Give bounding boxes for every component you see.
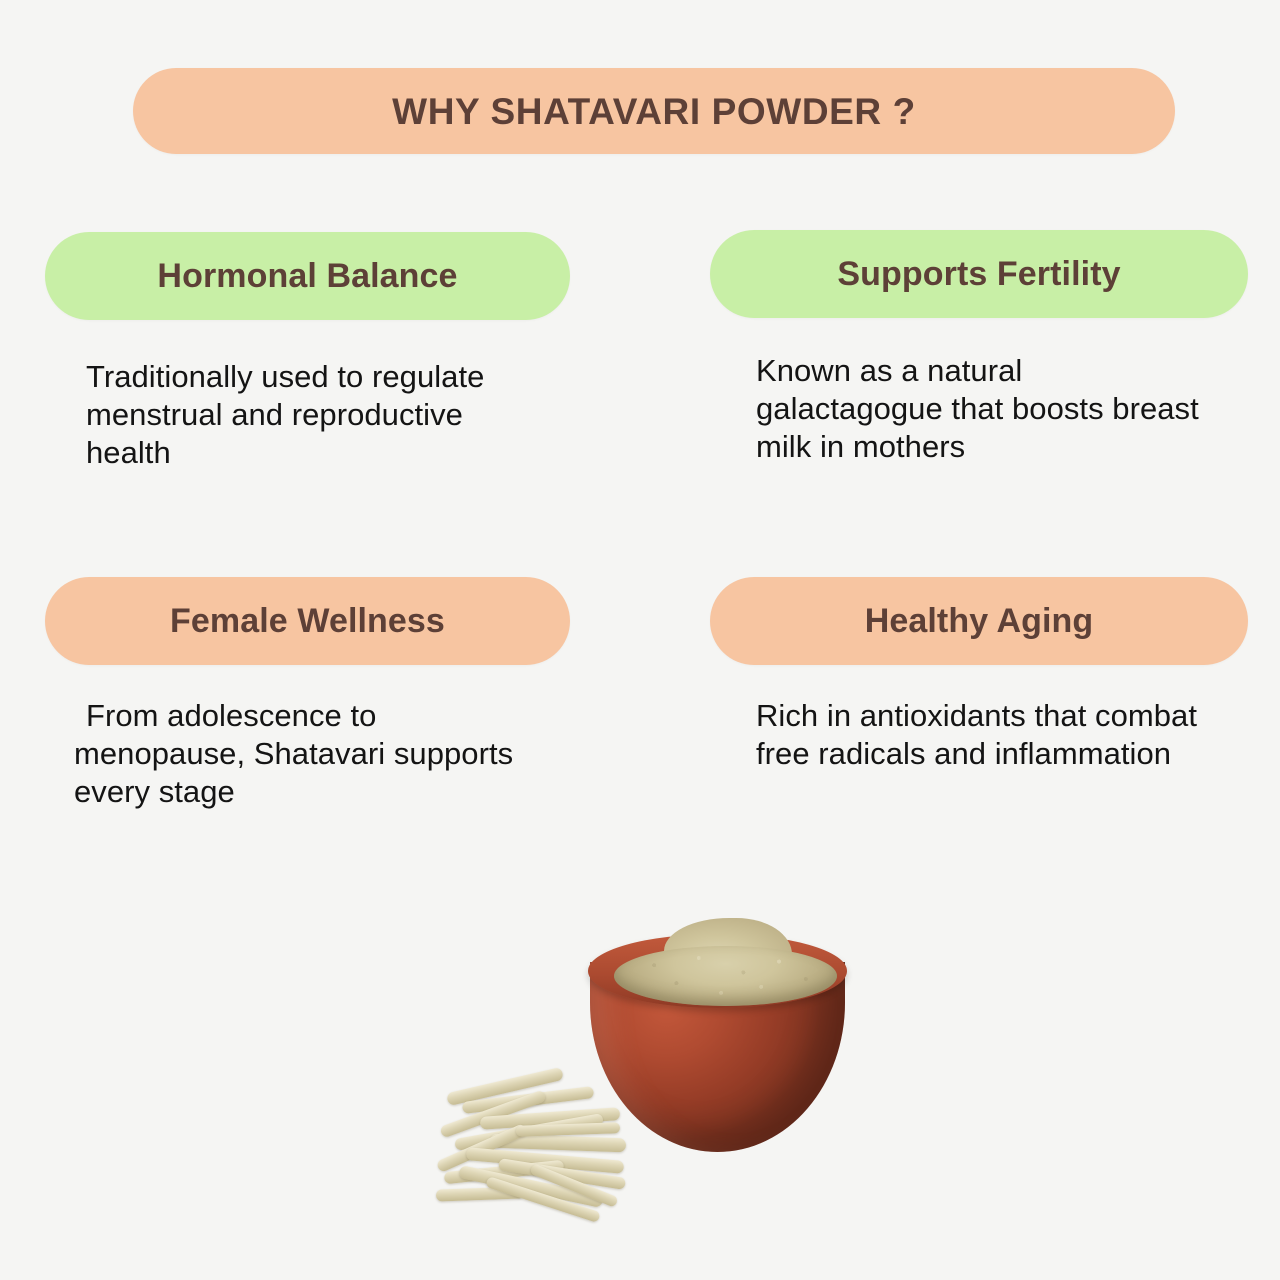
page-title: WHY SHATAVARI POWDER ? [392,93,916,130]
powder-texture [614,946,837,1006]
feature-supports-fertility-pill: Supports Fertility [710,230,1248,318]
feature-female-wellness-pill: Female Wellness [45,577,570,665]
feature-healthy-aging-pill: Healthy Aging [710,577,1248,665]
shatavari-powder-bowl-photo [420,908,860,1248]
feature-healthy-aging-body: Rich in antioxidants that combat free ra… [756,697,1251,773]
feature-supports-fertility-body: Known as a natural galactagogue that boo… [756,352,1216,465]
feature-supports-fertility-title: Supports Fertility [837,257,1120,291]
page-title-pill: WHY SHATAVARI POWDER ? [133,68,1175,154]
feature-female-wellness-title: Female Wellness [170,604,445,638]
feature-hormonal-balance-title: Hormonal Balance [157,259,457,293]
bowl-rim [588,934,847,1008]
terracotta-bowl [580,928,855,1158]
shatavari-powder [614,946,837,1006]
infographic-canvas: WHY SHATAVARI POWDER ? Hormonal Balance … [0,0,1280,1280]
feature-healthy-aging-title: Healthy Aging [865,604,1094,638]
feature-hormonal-balance-pill: Hormonal Balance [45,232,570,320]
feature-female-wellness-body: From adolescence to menopause, Shatavari… [74,697,544,810]
feature-hormonal-balance-body: Traditionally used to regulate menstrual… [86,358,556,471]
